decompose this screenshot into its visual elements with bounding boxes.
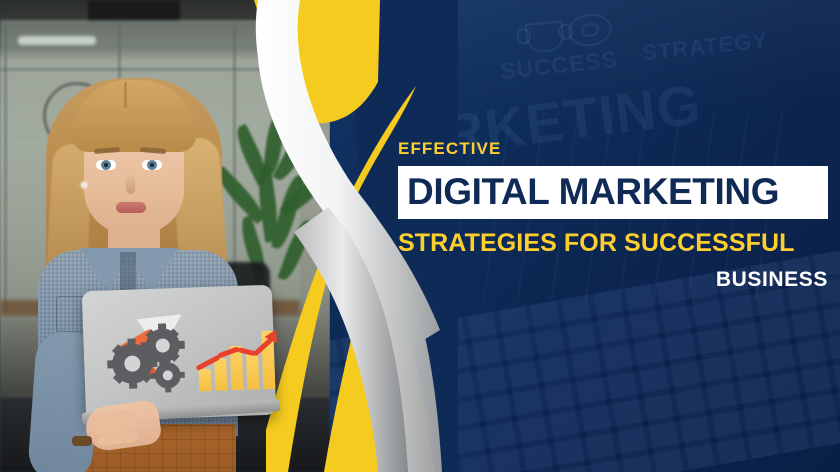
eye-right bbox=[142, 160, 162, 170]
eye-left bbox=[96, 160, 116, 170]
marketing-banner: AD SUCCESS STRATEGY MARKETING bbox=[0, 0, 840, 472]
hair-part bbox=[124, 82, 127, 108]
wrist-bracelet bbox=[72, 436, 92, 446]
laptop bbox=[82, 285, 276, 422]
lips bbox=[116, 202, 146, 213]
headline-block: EFFECTIVE DIGITAL MARKETING STRATEGIES F… bbox=[398, 140, 828, 290]
subtitle-text: STRATEGIES FOR SUCCESSFUL bbox=[398, 231, 828, 256]
nose bbox=[126, 174, 135, 194]
subtitle-secondary-text: BUSINESS bbox=[398, 269, 828, 290]
gear-icon bbox=[145, 328, 180, 363]
glass-mullion bbox=[4, 22, 7, 312]
page-title: DIGITAL MARKETING bbox=[407, 173, 819, 210]
eyebrow-text: EFFECTIVE bbox=[398, 140, 828, 157]
title-highlight-box: DIGITAL MARKETING bbox=[398, 166, 828, 219]
gear-icon bbox=[154, 362, 181, 389]
earring bbox=[81, 182, 87, 188]
ceiling-light-icon bbox=[88, 0, 180, 22]
